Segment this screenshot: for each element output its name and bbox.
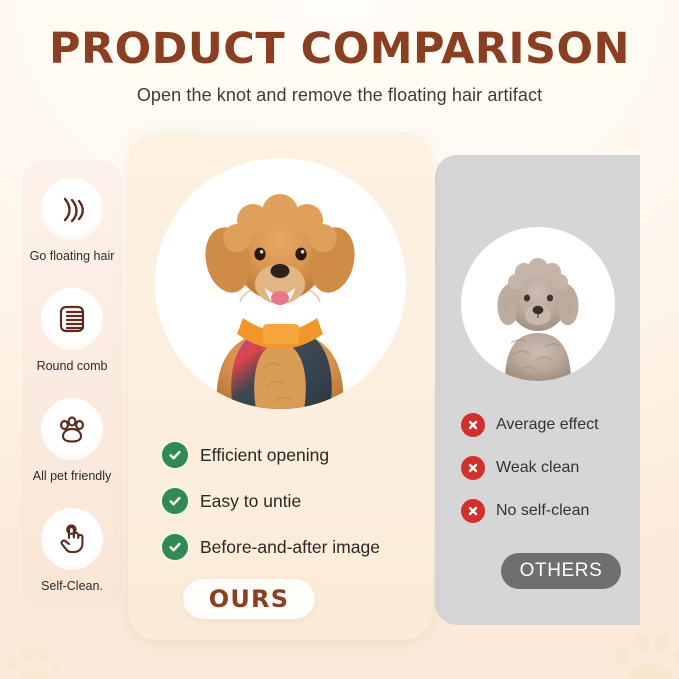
ours-badge: OURS	[183, 579, 315, 619]
feature-item-self-clean: Self-Clean.	[22, 508, 122, 593]
paw-print-watermark-bottom-left	[4, 640, 64, 679]
x-circle-icon	[461, 413, 485, 437]
drawback-item: Weak clean	[461, 456, 636, 480]
check-circle-icon	[162, 488, 188, 514]
benefit-label: Before-and-after image	[200, 537, 380, 558]
self-clean-hand-icon	[41, 508, 103, 570]
feature-label: Round comb	[22, 359, 122, 373]
drawback-label: No self-clean	[496, 502, 589, 520]
x-circle-icon	[461, 499, 485, 523]
benefit-label: Efficient opening	[200, 445, 329, 466]
others-badge-label: OTHERS	[520, 560, 603, 582]
drawback-label: Average effect	[496, 416, 599, 434]
drawback-label: Weak clean	[496, 459, 579, 477]
feature-item-all-pet-friendly: All pet friendly	[22, 398, 122, 483]
benefit-item: Efficient opening	[162, 442, 412, 468]
paw-print-watermark-corner	[612, 626, 679, 679]
feature-sidebar: Go floating hair Round comb	[22, 160, 122, 610]
product-comparison-infographic: PRODUCT COMPARISON Open the knot and rem…	[0, 0, 679, 679]
page-title: PRODUCT COMPARISON	[0, 28, 679, 71]
check-circle-icon	[162, 534, 188, 560]
benefit-item: Before-and-after image	[162, 534, 412, 560]
ours-badge-label: OURS	[209, 585, 289, 613]
others-dog-photo	[461, 227, 615, 381]
drawback-item: No self-clean	[461, 499, 636, 523]
round-comb-icon	[41, 288, 103, 350]
ours-card: Efficient opening Easy to untie Before-a…	[128, 132, 433, 640]
header: PRODUCT COMPARISON Open the knot and rem…	[0, 28, 679, 106]
x-circle-icon	[461, 456, 485, 480]
others-card: Average effect Weak clean	[435, 155, 640, 625]
benefit-list: Efficient opening Easy to untie Before-a…	[162, 442, 412, 580]
feature-label: All pet friendly	[22, 469, 122, 483]
feature-label: Self-Clean.	[22, 579, 122, 593]
feature-item-go-floating-hair: Go floating hair	[22, 178, 122, 263]
feature-label: Go floating hair	[22, 249, 122, 263]
ours-dog-photo	[155, 158, 406, 409]
floating-hair-icon	[41, 178, 103, 240]
page-subtitle: Open the knot and remove the floating ha…	[0, 85, 679, 106]
check-circle-icon	[162, 442, 188, 468]
benefit-item: Easy to untie	[162, 488, 412, 514]
paw-print-icon	[41, 398, 103, 460]
benefit-label: Easy to untie	[200, 491, 301, 512]
feature-item-round-comb: Round comb	[22, 288, 122, 373]
drawback-item: Average effect	[461, 413, 636, 437]
others-badge: OTHERS	[501, 553, 621, 589]
drawback-list: Average effect Weak clean	[461, 413, 636, 542]
